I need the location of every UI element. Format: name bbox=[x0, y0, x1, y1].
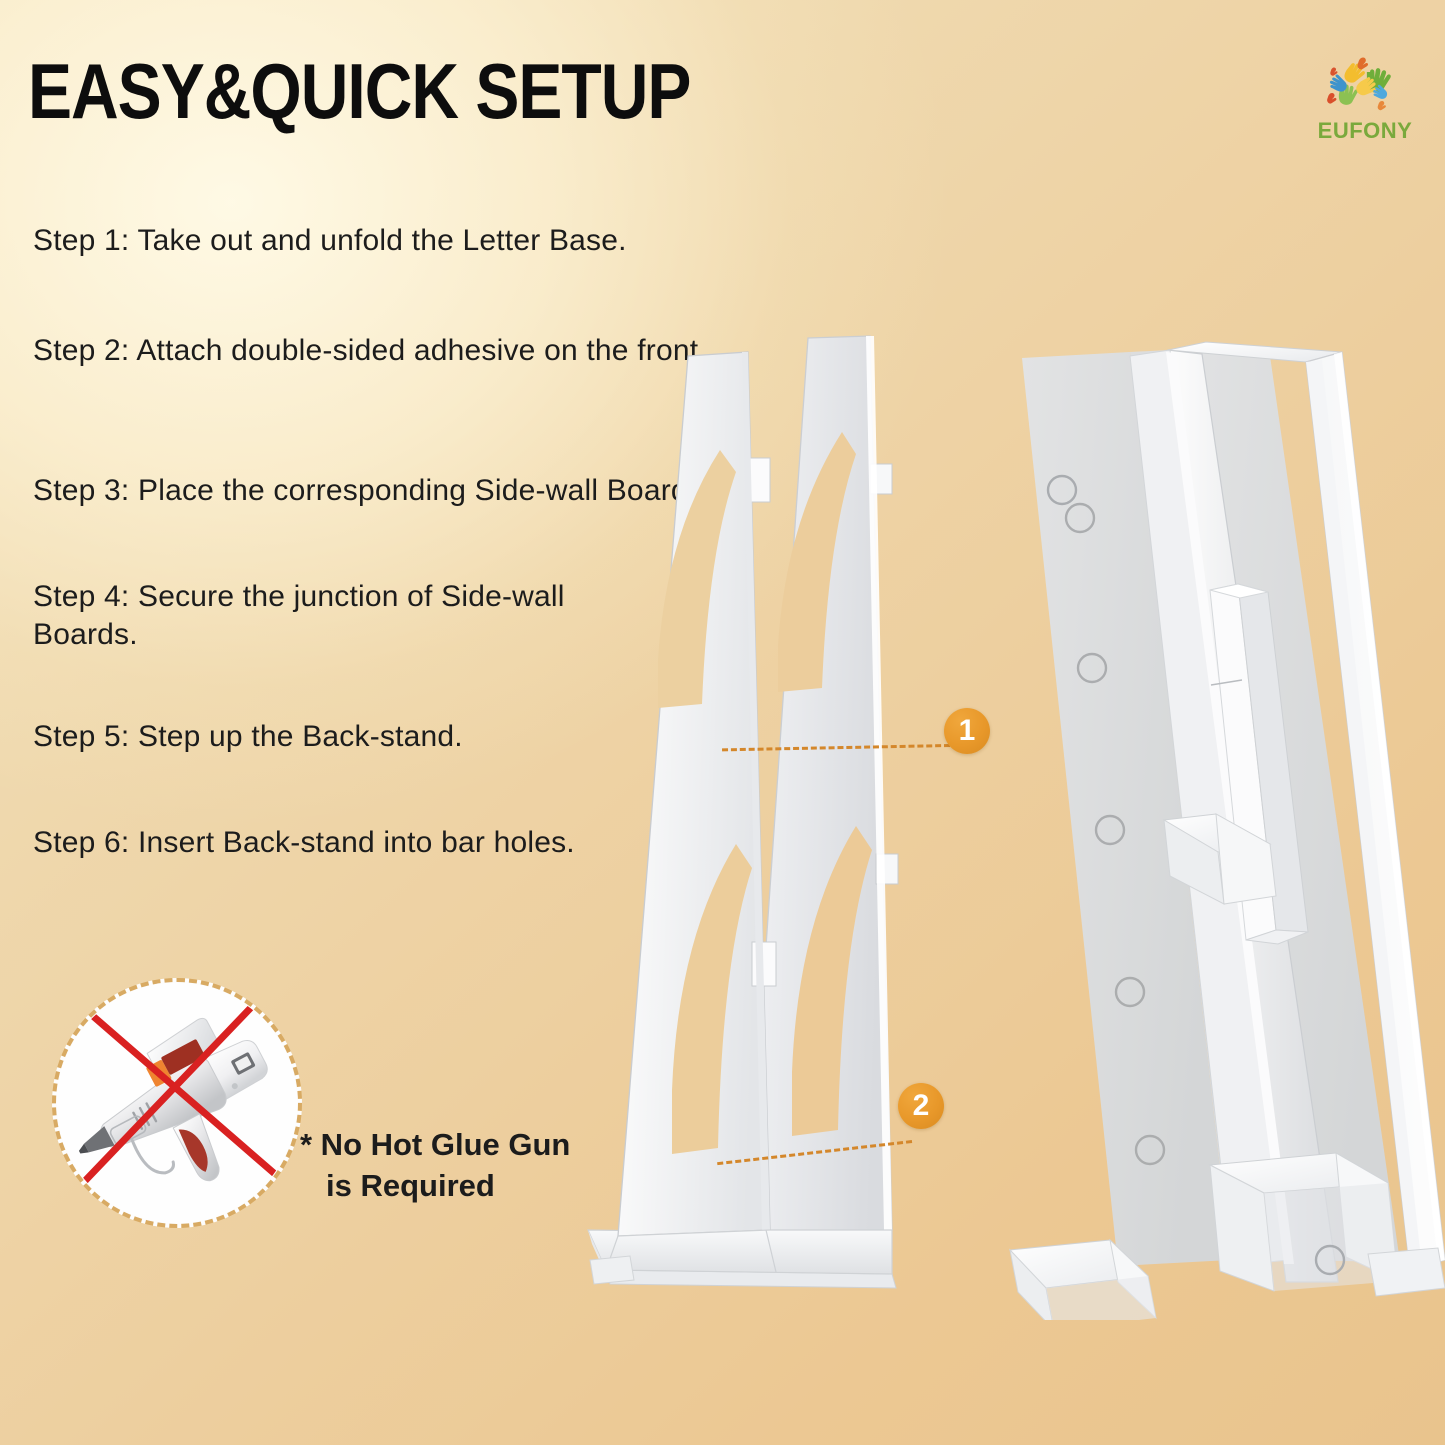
callout-badge-2[interactable]: 2 bbox=[898, 1083, 944, 1129]
brand-name: EUFONY bbox=[1306, 118, 1424, 144]
setup-instruction-page: EASY&QUICK SETUP bbox=[0, 0, 1445, 1445]
brand-logo: EUFONY bbox=[1306, 56, 1424, 152]
letter-a-right-foot bbox=[1368, 1248, 1445, 1296]
page-title: EASY&QUICK SETUP bbox=[28, 46, 690, 136]
hands-circle-icon bbox=[1320, 56, 1410, 118]
glue-gun-illustration bbox=[57, 983, 297, 1223]
back-stand bbox=[588, 336, 898, 1288]
letter-a-crossbar bbox=[1210, 1153, 1398, 1291]
no-hot-glue-gun-icon bbox=[52, 978, 302, 1228]
letter-a-assembly-illustration bbox=[570, 330, 1445, 1320]
no-glue-gun-label-line1: * No Hot Glue Gun bbox=[300, 1127, 570, 1162]
callout-badge-1[interactable]: 1 bbox=[944, 708, 990, 754]
back-stand-left-panel bbox=[618, 352, 776, 1236]
step-item-1: Step 1: Take out and unfold the Letter B… bbox=[33, 222, 733, 260]
glue-gun-svg bbox=[57, 983, 297, 1223]
no-glue-gun-label: * No Hot Glue Gun is Required bbox=[300, 1124, 570, 1206]
no-glue-gun-label-line2: is Required bbox=[326, 1165, 570, 1206]
